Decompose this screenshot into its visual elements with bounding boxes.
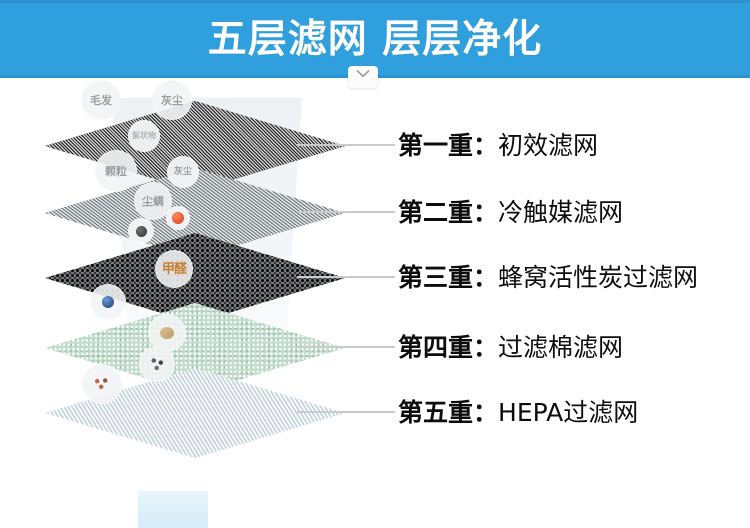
collapse-toggle-tab[interactable] [348, 66, 378, 88]
chevron-down-icon [356, 69, 370, 79]
legend-desc-5: HEPA过滤网 [498, 393, 638, 429]
legend-index-1: 第一重： [398, 126, 498, 162]
legend-desc-2: 冷触媒滤网 [498, 193, 623, 229]
connector-line-3 [297, 276, 395, 278]
particle-bubble-bacteria-icon [90, 284, 126, 320]
legend-index-2: 第二重： [398, 193, 498, 229]
legend-row-4[interactable]: 第四重： 过滤棉滤网 [398, 331, 623, 361]
filter-stack-diagram: 毛发 灰尘 絮状物 颗粒 灰尘 尘螨 [0, 78, 750, 528]
particle-bubble-odor-icon [128, 218, 154, 244]
legend-index-4: 第四重： [398, 328, 498, 364]
legend-index-5: 第五重： [398, 393, 498, 429]
legend-row-3[interactable]: 第三重： 蜂窝活性炭过滤网 [398, 261, 698, 291]
particle-bubble-smoke-icon [139, 346, 175, 382]
particle-bubble-hair: 毛发 [81, 80, 121, 120]
legend-desc-1: 初效滤网 [498, 126, 598, 162]
connector-line-1 [297, 144, 395, 146]
connector-line-4 [297, 346, 395, 348]
legend-row-5[interactable]: 第五重： HEPA过滤网 [398, 396, 638, 426]
connector-line-5 [297, 411, 395, 413]
page-title: 五层滤网 层层净化 [0, 3, 750, 75]
particle-bubble-dust-2: 灰尘 [167, 156, 199, 188]
legend-row-2[interactable]: 第二重： 冷触媒滤网 [398, 196, 623, 226]
particle-bubble-particulate: 颗粒 [95, 150, 137, 192]
particle-bubble-formaldehyde: 甲醛 [155, 250, 193, 288]
legend-desc-3: 蜂窝活性炭过滤网 [498, 258, 698, 294]
particle-bubble-pm25-icon [82, 364, 122, 404]
legend-row-1[interactable]: 第一重： 初效滤网 [398, 129, 598, 159]
particle-bubble-fluff: 絮状物 [128, 120, 160, 152]
particle-bubble-dust-1: 灰尘 [152, 80, 192, 120]
legend-desc-4: 过滤棉滤网 [498, 328, 623, 364]
airflow-arrow-down-icon [103, 491, 243, 528]
legend-index-3: 第三重： [398, 258, 498, 294]
particle-bubble-virus-icon [166, 206, 190, 230]
page-root: 五层滤网 层层净化 毛发 灰尘 絮状物 [0, 0, 750, 528]
connector-line-2 [297, 211, 395, 213]
